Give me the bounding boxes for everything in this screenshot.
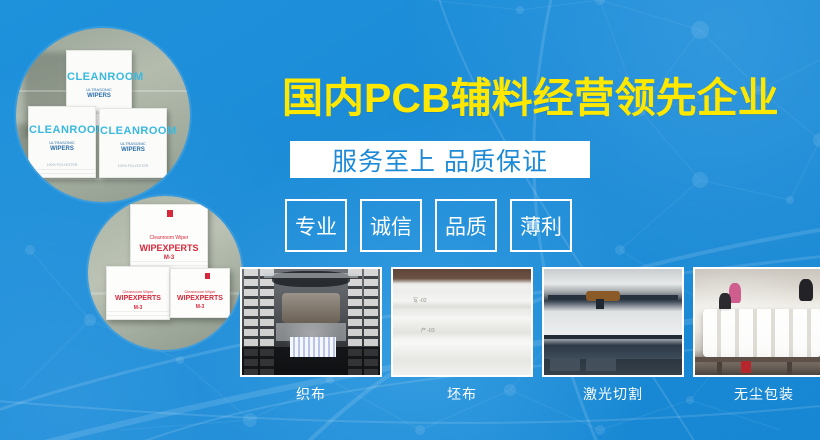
process-step-cleanroom-packing[interactable]: 无尘包装 <box>693 267 820 404</box>
pack-line2: ULTRASONIC <box>100 141 166 146</box>
process-step-greige-fabric[interactable]: 写 -02 产 -03 坯布 <box>391 267 533 404</box>
pack-brand: WIPEXPERTS <box>131 243 207 253</box>
promo-banner: CLEANROOM ULTRASONIC WIPERS 100% POLYEST… <box>0 0 820 440</box>
pack-line1: Cleanroom Wiper <box>131 235 207 241</box>
pack-brand: CLEANROOM <box>67 71 131 83</box>
badge-label: 品质 <box>445 211 487 241</box>
cleanroom-wipes-photo: CLEANROOM ULTRASONIC WIPERS 100% POLYEST… <box>16 28 190 202</box>
wipexperts-pack: Cleanroom Wiper WIPEXPERTS M-3 <box>170 268 230 318</box>
process-step-weaving[interactable]: 织布 <box>240 267 382 404</box>
badge-label: 专业 <box>295 211 337 241</box>
feature-badge-integrity[interactable]: 诚信 <box>360 199 422 252</box>
banner-subtitle-box: 服务至上 品质保证 <box>290 141 590 178</box>
banner-headline: 国内PCB辅料经营领先企业 <box>282 74 779 122</box>
feature-badge-lowmargin[interactable]: 薄利 <box>510 199 572 252</box>
process-step-laser-cutting[interactable]: 激光切割 <box>542 267 684 404</box>
pack-code: M-3 <box>171 304 229 310</box>
pack-footnote: 100% POLYESTER <box>100 164 166 168</box>
feature-badge-quality[interactable]: 品质 <box>435 199 497 252</box>
process-step-label: 织布 <box>240 384 382 404</box>
process-thumbnail-list: 织布 写 -02 产 -03 坯布 <box>240 267 820 404</box>
process-step-label: 坯布 <box>391 384 533 404</box>
pack-brand: WIPEXPERTS <box>171 295 229 302</box>
pack-line3: WIPERS <box>29 146 95 152</box>
wipes-pack: CLEANROOM ULTRASONIC WIPERS 100% POLYEST… <box>99 108 167 178</box>
worker-figure <box>799 279 813 301</box>
badge-label: 薄利 <box>520 211 562 241</box>
feature-badge-list: 专业 诚信 品质 薄利 <box>285 199 572 252</box>
pack-line1: Cleanroom Wiper <box>107 289 169 294</box>
process-step-label: 无尘包装 <box>693 384 820 404</box>
badge-label: 诚信 <box>370 211 412 241</box>
pack-line2: ULTRASONIC <box>67 87 131 92</box>
process-step-label: 激光切割 <box>542 384 684 404</box>
knitting-machine-photo <box>242 269 380 375</box>
wipexperts-pack: Cleanroom Wiper WIPEXPERTS M-3 <box>106 266 170 320</box>
pack-brand: WIPEXPERTS <box>107 295 169 302</box>
cleanroom-photo-background: CLEANROOM ULTRASONIC WIPERS 100% POLYEST… <box>16 28 190 202</box>
wipexperts-photo: Cleanroom Wiper WIPEXPERTS M-3 Cleanroom… <box>88 196 242 350</box>
laser-cutting-machine-photo <box>544 269 682 375</box>
pack-line1: Cleanroom Wiper <box>171 289 229 294</box>
pack-line3: WIPERS <box>67 93 131 99</box>
wipes-pack: CLEANROOM ULTRASONIC WIPERS 100% POLYEST… <box>28 106 96 178</box>
pack-brand: CLEANROOM <box>100 125 166 137</box>
cleanroom-packing-photo <box>695 269 820 375</box>
process-thumbnail-image <box>240 267 382 377</box>
feature-badge-professional[interactable]: 专业 <box>285 199 347 252</box>
pack-line3: WIPERS <box>100 147 166 153</box>
pack-brand: CLEANROOM <box>29 124 95 136</box>
pack-footnote: 100% POLYESTER <box>29 163 95 167</box>
banner-subtitle: 服务至上 品质保证 <box>332 142 548 178</box>
pack-line2: ULTRASONIC <box>29 140 95 145</box>
process-thumbnail-image <box>542 267 684 377</box>
wipexperts-photo-background: Cleanroom Wiper WIPEXPERTS M-3 Cleanroom… <box>88 196 242 350</box>
greige-fabric-rolls-photo: 写 -02 产 -03 <box>393 269 531 375</box>
process-thumbnail-image: 写 -02 产 -03 <box>391 267 533 377</box>
wipexperts-pack: Cleanroom Wiper WIPEXPERTS M-3 <box>130 204 208 272</box>
process-thumbnail-image <box>693 267 820 377</box>
